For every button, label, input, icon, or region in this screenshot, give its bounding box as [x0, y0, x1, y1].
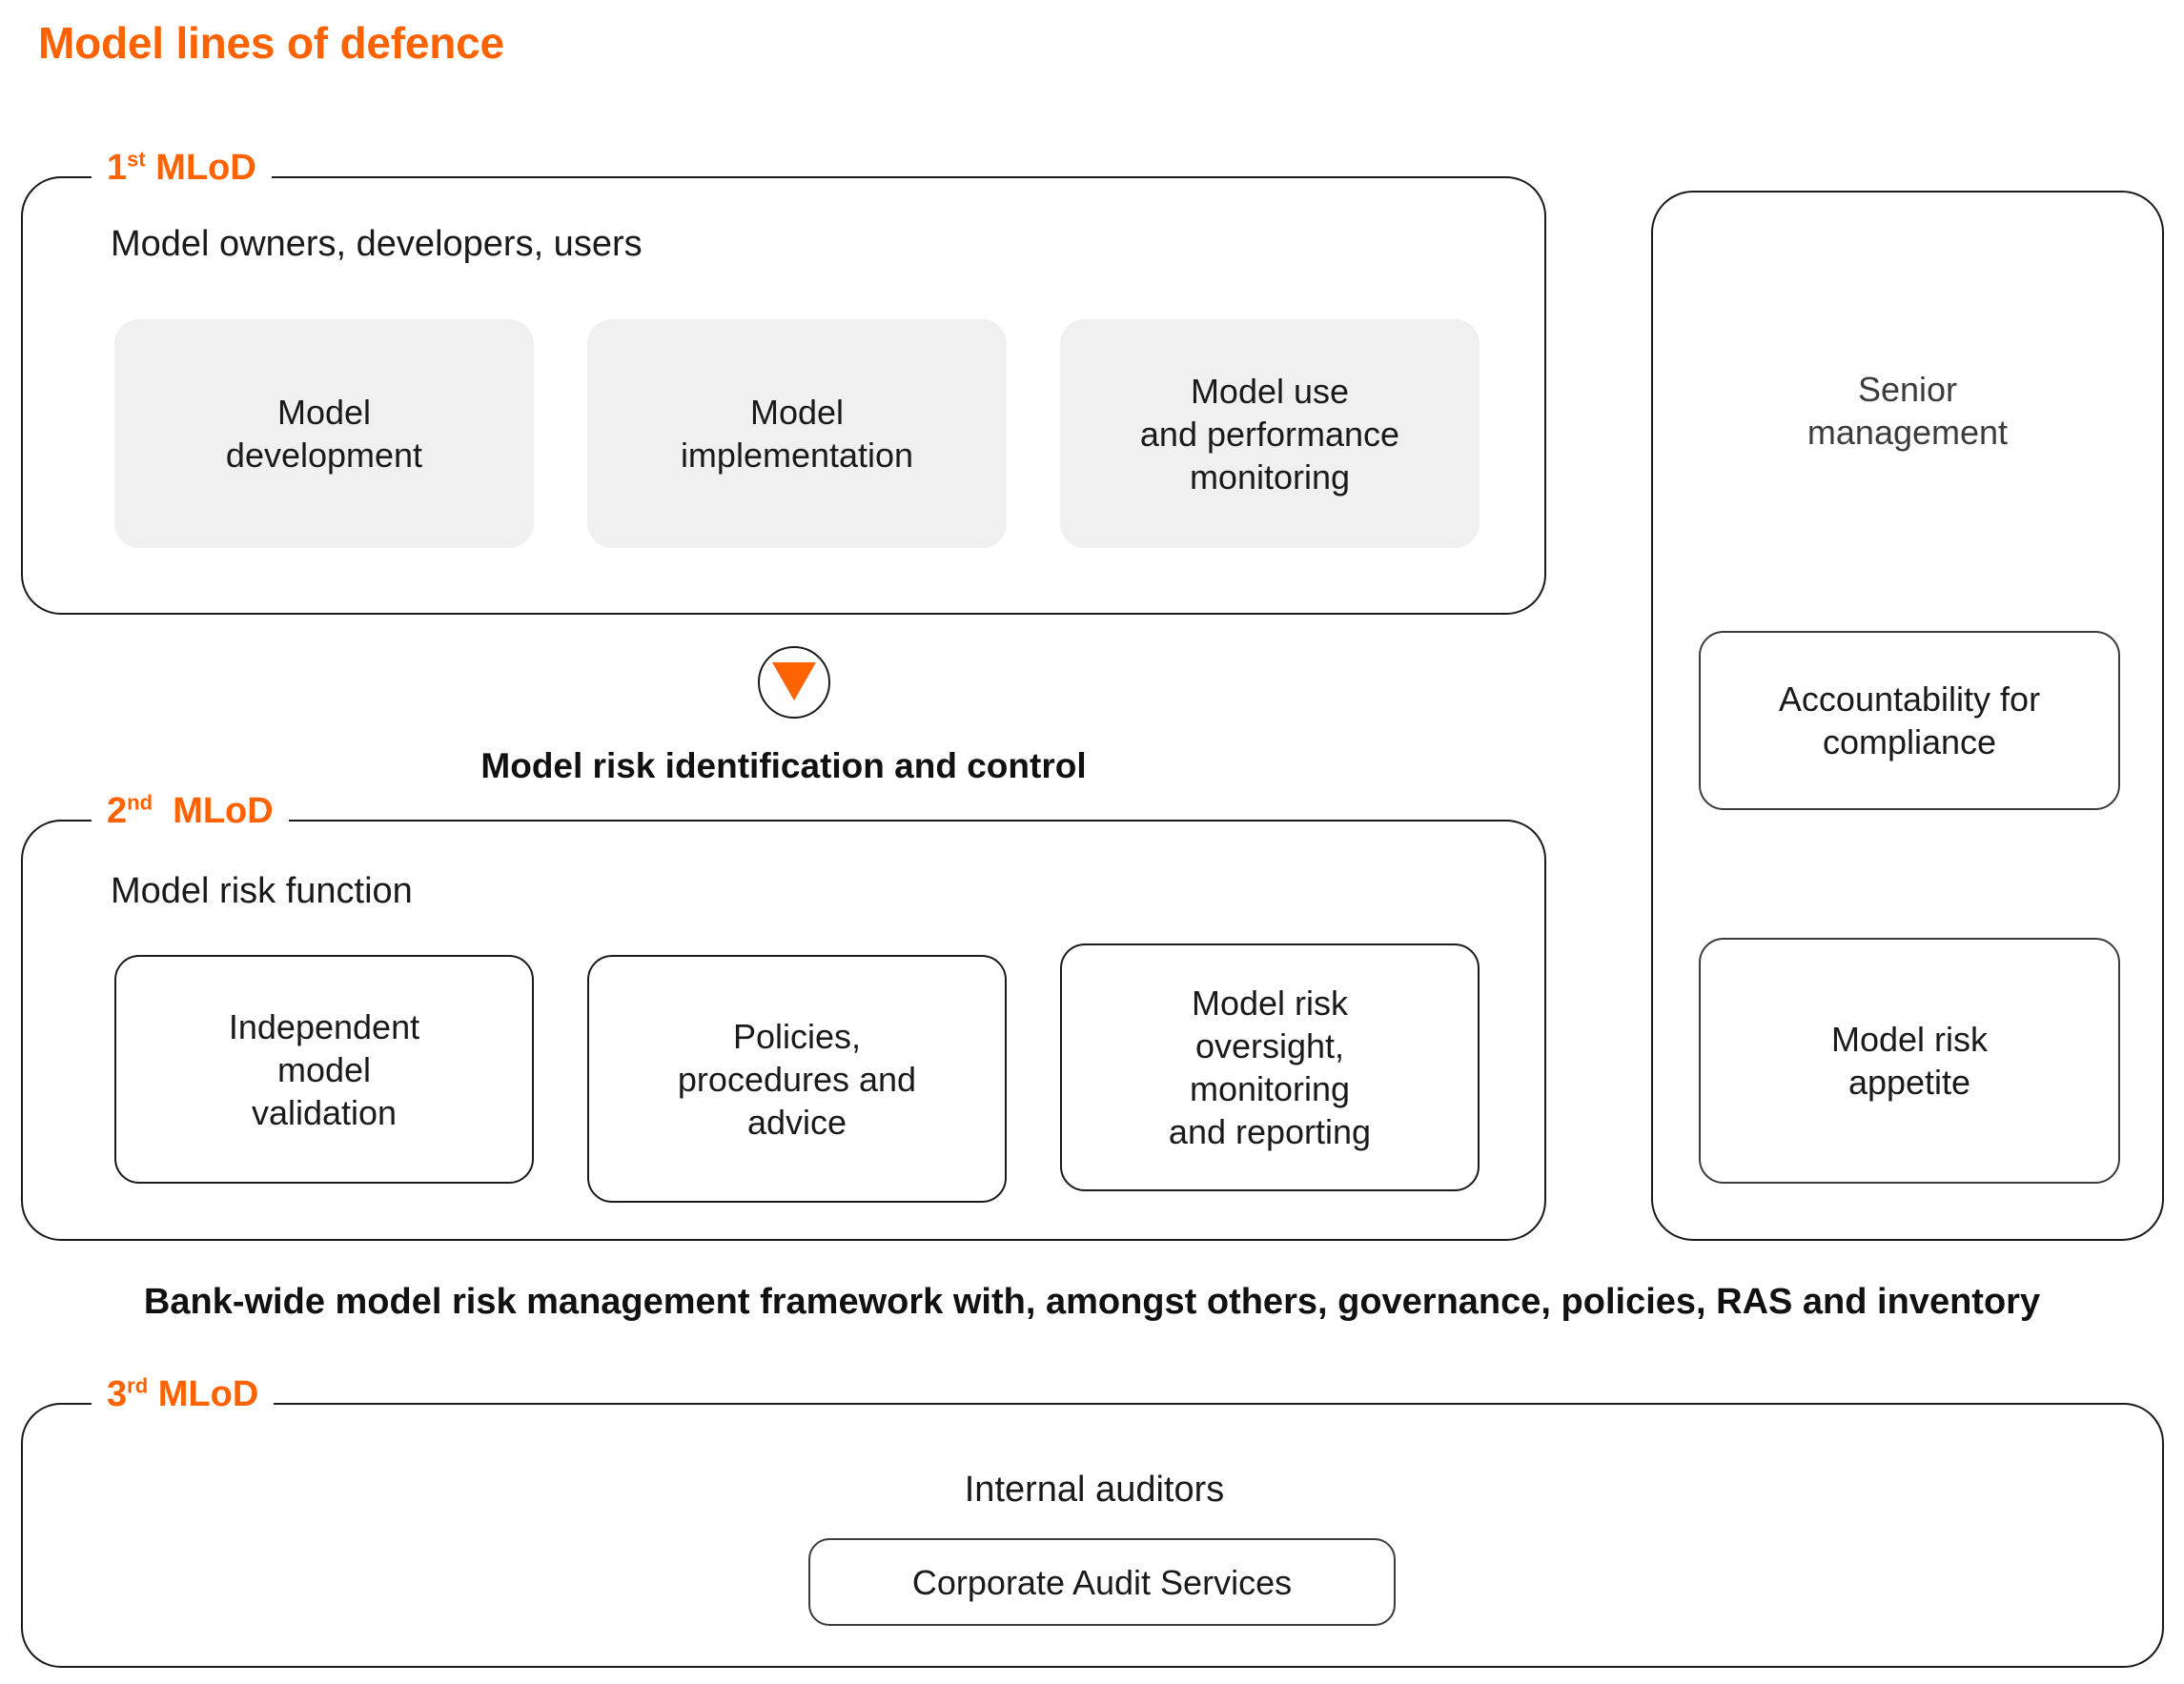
card-model-implementation[interactable]: Model implementation	[587, 319, 1007, 548]
connector-label: Model risk identification and control	[21, 746, 1546, 786]
group-legend-3rd-mlod: 3rd MLoD	[92, 1376, 274, 1412]
card-model-development[interactable]: Model development	[114, 319, 534, 548]
legend-number: 3	[107, 1374, 127, 1414]
card-model-use-and-performance-monitoring[interactable]: Model use and performance monitoring	[1060, 319, 1480, 548]
legend-suffix: st	[127, 147, 146, 171]
legend-suffix: nd	[127, 790, 153, 814]
card-accountability-for-compliance[interactable]: Accountability for compliance	[1699, 631, 2120, 810]
legend-suffix: rd	[127, 1373, 148, 1397]
page-title: Model lines of defence	[38, 17, 504, 69]
group-senior-management: Senior management Accountability for com…	[1651, 191, 2164, 1241]
card-model-risk-oversight-monitoring-and-reporting[interactable]: Model risk oversight, monitoring and rep…	[1060, 943, 1480, 1191]
group-2nd-mlod: 2nd MLoD Model risk function Independent…	[21, 820, 1546, 1241]
group-heading-2nd-mlod: Model risk function	[111, 871, 413, 912]
group-legend-2nd-mlod: 2nd MLoD	[92, 793, 289, 829]
legend-label: MLoD	[155, 148, 256, 188]
group-heading-1st-mlod: Model owners, developers, users	[111, 224, 643, 265]
group-heading-3rd-mlod: Internal auditors	[23, 1470, 2166, 1511]
down-triangle-icon	[772, 662, 816, 700]
down-arrow-marker	[758, 646, 830, 719]
legend-label: MLoD	[173, 791, 274, 831]
framework-banner: Bank-wide model risk management framewor…	[0, 1282, 2184, 1323]
group-3rd-mlod: 3rd MLoD Internal auditors Corporate Aud…	[21, 1403, 2164, 1668]
group-legend-1st-mlod: 1st MLoD	[92, 150, 272, 186]
legend-number: 1	[107, 148, 127, 188]
group-1st-mlod: 1st MLoD Model owners, developers, users…	[21, 176, 1546, 615]
diagram-canvas: Model lines of defence 1st MLoD Model ow…	[0, 0, 2184, 1684]
card-policies-procedures-and-advice[interactable]: Policies, procedures and advice	[587, 955, 1007, 1203]
senior-management-heading: Senior management	[1653, 368, 2162, 454]
card-independent-model-validation[interactable]: Independent model validation	[114, 955, 534, 1184]
legend-label: MLoD	[158, 1374, 259, 1414]
legend-number: 2	[107, 791, 127, 831]
card-model-risk-appetite[interactable]: Model risk appetite	[1699, 938, 2120, 1184]
card-corporate-audit-services[interactable]: Corporate Audit Services	[808, 1538, 1396, 1626]
